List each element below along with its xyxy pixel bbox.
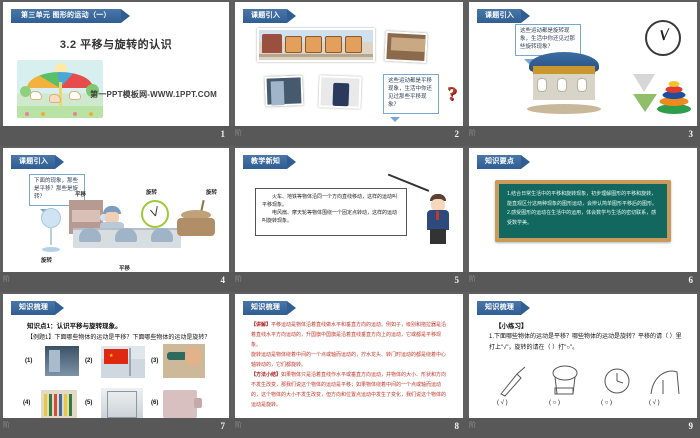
- page-title: 3.2 平移与旋转的认识: [3, 36, 229, 52]
- slide-5-canvas: 教学新知 火车、地铁等物体沿同一个方向直线移动，这样的运动叫平移现象。 电风扇、…: [235, 148, 463, 272]
- slide-1-canvas: 第三单元 图形的运动（一） 3.2 平移与旋转的认识 第一PPT模板网-WWW.…: [3, 2, 229, 126]
- slide-7-footer: 阶 7: [0, 418, 232, 438]
- photo-train: [257, 28, 375, 62]
- fan-stem: [50, 227, 52, 245]
- abacus-bead: [69, 394, 72, 416]
- label-mill: 旋转: [206, 188, 217, 196]
- page-number: 5: [455, 275, 460, 285]
- answer-3: ( ○ ): [601, 400, 612, 406]
- slide-2-footer: 阶 2: [232, 126, 466, 146]
- footer-mark: 阶: [3, 276, 10, 283]
- page-number: 9: [689, 421, 694, 431]
- label-fan: 旋转: [41, 256, 52, 264]
- photo-subway-door: [45, 346, 79, 376]
- chalkboard-frame: 1.结合日常生活中的平移和旋转现象，初步理解图形的平移和旋转，能直观区分这两种现…: [495, 180, 671, 242]
- teacher-illustration: [425, 194, 451, 244]
- sketch-slide: [647, 364, 683, 398]
- carousel-horse: [537, 78, 547, 92]
- train-car: [325, 36, 342, 53]
- slide-thumbnail-7[interactable]: 知识梳理 知识点1：认识平移与旋转现象。 【例题1】下面哪些物体的运动是平移？下…: [0, 292, 232, 438]
- slide-9-canvas: 知识梳理 【小练习】 1.下面哪些物体的运动是平移？哪些物体的运动是旋转？平移的…: [469, 294, 697, 418]
- flower-icon: [73, 112, 77, 116]
- locomotive-shape: [262, 34, 282, 53]
- item-number-5: (5): [85, 400, 92, 406]
- page-number: 3: [689, 129, 694, 139]
- section-tag: 知识梳理: [477, 301, 521, 315]
- section-tag: 教学新知: [243, 155, 287, 169]
- carousel-horse: [557, 78, 567, 92]
- chalkboard: 1.结合日常生活中的平移和旋转现象，初步理解图形的平移和旋转，能直观区分这两种现…: [499, 184, 667, 238]
- board-line-1: 1.结合日常生活中的平移和旋转现象，初步理解图形的平移和旋转，能直观区分这两种现…: [507, 190, 659, 209]
- summary-text: 如果物体只是沿着直线作水平或垂直方向运动，并物体的大小、形状和方向不发生改变，那…: [251, 372, 446, 408]
- train-car: [285, 36, 302, 53]
- clock-minute-hand: [155, 206, 158, 216]
- photo-faucet: [163, 344, 205, 378]
- clock-icon: [141, 200, 169, 228]
- slide-thumbnail-4[interactable]: 课题引入 下面的现象，那些是平移？那些是旋转？ 旋转 平移 旋转: [0, 146, 232, 292]
- teacher-tie: [436, 211, 439, 220]
- example-question: 【例题1】下面哪些物体的运动是平移？下面哪些物体的运动是旋转？: [27, 332, 210, 341]
- door-glass: [271, 81, 285, 105]
- footer-mark: 阶: [3, 422, 10, 429]
- flag-pole: [129, 348, 131, 376]
- label-drawer: 平移: [75, 190, 86, 198]
- sketch-clock: [599, 364, 635, 398]
- slide-6-canvas: 知识要点 1.结合日常生活中的平移和旋转现象，初步理解图形的平移和旋转，能直观区…: [469, 148, 697, 272]
- slide-5-footer: 阶 5: [232, 272, 466, 292]
- hand-icon: [185, 348, 201, 366]
- label-clock: 旋转: [146, 188, 157, 196]
- stone-mill-icon: [177, 200, 215, 240]
- spinning-top-gray: [633, 74, 655, 92]
- mill-base: [177, 218, 215, 236]
- flag-star: ★: [109, 354, 113, 359]
- abacus-bead: [49, 394, 52, 416]
- train-car: [345, 36, 362, 53]
- slide-8-canvas: 知识梳理 【讲解】平移运动是物体沿着直线做水平和垂直方向的运动。例如子，级别和拖…: [235, 294, 463, 418]
- ring-yellow: [669, 81, 680, 87]
- drawer-front: [391, 37, 426, 52]
- photo-luggage: [318, 75, 361, 108]
- unit-tag: 第三单元 图形的运动（一）: [11, 9, 121, 23]
- abacus-bead: [44, 394, 47, 416]
- suitcase-shape: [333, 83, 350, 107]
- slide-1-footer: 1: [0, 126, 232, 146]
- wall-clock-icon: [645, 20, 681, 56]
- slide-3-footer: 阶 3: [466, 126, 700, 146]
- watermark-text: 第一PPT模板网-WWW.1PPT.COM: [90, 89, 217, 100]
- knowledge-point-heading: 知识点1：认识平移与旋转现象。: [27, 320, 122, 330]
- item-number-1: (1): [25, 358, 32, 364]
- slide-8-footer: 阶 8: [232, 418, 466, 438]
- flower-icon: [89, 112, 93, 116]
- explain-text-1: 平移运动是物体沿着直线做水平和垂直方向的运动。例如子，级别和拖拉器是沿着直线水平…: [251, 322, 446, 348]
- summary-label: 【方法小结】: [251, 372, 281, 378]
- section-tag: 知识梳理: [11, 301, 55, 315]
- label-belt: 平移: [119, 264, 130, 272]
- section-tag: 课题引入: [477, 9, 521, 23]
- slide-thumbnail-8[interactable]: 知识梳理 【讲解】平移运动是物体沿着直线做水平和垂直方向的运动。例如子，级别和拖…: [232, 292, 466, 438]
- answer-2: ( ○ ): [549, 400, 560, 406]
- flower-icon: [41, 112, 45, 116]
- sketch-swing: [547, 364, 583, 398]
- question-mark-icon: ?: [447, 83, 457, 106]
- answer-4: ( √ ): [649, 400, 660, 406]
- concept-textbox: 火车、地铁等物体沿同一个方向直线移动，这样的运动叫平移现象。 电风扇、摩天轮等物…: [255, 188, 407, 236]
- footer-mark: 阶: [469, 422, 476, 429]
- slide-thumbnail-3[interactable]: 课题引入 这些运动都是旋转现象，生活中你还见过那些旋转现象？: [466, 0, 700, 146]
- footer-mark: 阶: [469, 276, 476, 283]
- speech-bubble: 这些运动都是平移现象，生活中你还见过那些平移现象？: [383, 74, 439, 114]
- page-number: 8: [455, 421, 460, 431]
- fan-base: [42, 247, 60, 252]
- slide-2-canvas: 课题引入 这些运动都是平移现象，生活中你还见过那些平移现象？ ?: [235, 2, 463, 126]
- rail-line: [259, 54, 373, 57]
- slide-thumbnail-5[interactable]: 教学新知 火车、地铁等物体沿同一个方向直线移动，这样的运动叫平移现象。 电风扇、…: [232, 146, 466, 292]
- belt-item: [115, 228, 137, 242]
- photo-flag-raising: ★: [101, 346, 145, 378]
- slide-4-canvas: 课题引入 下面的现象，那些是平移？那些是旋转？ 旋转 平移 旋转: [3, 148, 229, 272]
- spinning-top-green: [633, 94, 657, 112]
- sketch-broom: [495, 364, 531, 398]
- photo-abacus: [41, 390, 77, 418]
- carousel-photo: [527, 52, 601, 114]
- footer-mark: 阶: [235, 276, 242, 283]
- board-line-2: 2.感受图形的运动在生活中的运用，体会数学与生活的密切联系，感受数学美。: [507, 209, 659, 228]
- section-tag: 知识要点: [477, 155, 521, 169]
- slide-thumbnail-9[interactable]: 知识梳理 【小练习】 1.下面哪些物体的运动是平移？哪些物体的运动是旋转？平移的…: [466, 292, 700, 438]
- teacher-legs: [430, 229, 446, 244]
- explanation-body: 【讲解】平移运动是物体沿着直线做水平和垂直方向的运动。例如子，级别和拖拉器是沿着…: [251, 320, 449, 410]
- ring-red: [666, 86, 683, 93]
- clock-minute-hand: [663, 28, 669, 40]
- photo-drawer: [163, 390, 197, 418]
- photo-subway-door: [264, 75, 303, 106]
- conveyor-belt: [73, 228, 181, 248]
- slide-thumbnail-6[interactable]: 知识要点 1.结合日常生活中的平移和旋转现象，初步理解图形的平移和旋转，能直观区…: [466, 146, 700, 292]
- stacking-rings-toy: [657, 80, 691, 114]
- slide-3-canvas: 课题引入 这些运动都是旋转现象，生活中你还见过那些旋转现象？: [469, 2, 697, 126]
- footer-mark: 阶: [235, 130, 242, 137]
- page-number: 2: [455, 129, 460, 139]
- section-tag: 课题引入: [243, 9, 287, 23]
- page-number: 6: [689, 275, 694, 285]
- train-car: [305, 36, 322, 53]
- fan-head: [41, 208, 61, 228]
- explain-label: 【讲解】: [251, 322, 271, 328]
- page-number: 4: [221, 275, 226, 285]
- explain-text-2: 旋转运动是物体绕着中间的一个点或轴而运动的，拧水龙头、转门时运动的都是绕着中心轴…: [251, 352, 446, 368]
- drawer-front: [72, 210, 100, 222]
- item-number-3: (3): [151, 358, 158, 364]
- item-number-6: (6): [151, 400, 158, 406]
- slide-9-footer: 阶 9: [466, 418, 700, 438]
- page-number: 1: [221, 129, 226, 139]
- item-number-4: (4): [23, 400, 30, 406]
- slide-thumbnail-1[interactable]: 第三单元 图形的运动（一） 3.2 平移与旋转的认识 第一PPT模板网-WWW.…: [0, 0, 232, 146]
- carousel-horse: [30, 91, 42, 100]
- section-tag: 知识梳理: [243, 301, 287, 315]
- faucet-shape: [167, 352, 187, 360]
- footer-mark: 阶: [469, 130, 476, 137]
- belt-item: [79, 228, 101, 242]
- photo-drawer: [384, 31, 428, 63]
- electric-fan-icon: [39, 208, 63, 252]
- carousel-horse: [577, 78, 587, 92]
- slide-thumbnail-grid: 第三单元 图形的运动（一） 3.2 平移与旋转的认识 第一PPT模板网-WWW.…: [0, 0, 700, 438]
- abacus-bead: [54, 394, 57, 416]
- carousel-base: [527, 104, 601, 114]
- footer-mark: 阶: [235, 422, 242, 429]
- concept-paragraph-2: 电风扇、摩天轮等物体围绕一个固定点转动，这样的运动叫旋转现象。: [262, 209, 400, 225]
- photo-revolving-door: [101, 388, 143, 418]
- slide-4-footer: 阶 4: [0, 272, 232, 292]
- concept-paragraph-1: 火车、地铁等物体沿同一个方向直线移动，这样的运动叫平移现象。: [262, 193, 400, 209]
- flower-icon: [25, 112, 29, 116]
- slide-thumbnail-2[interactable]: 课题引入 这些运动都是平移现象，生活中你还见过那些平移现象？ ? 阶: [232, 0, 466, 146]
- carousel-horse: [49, 94, 61, 103]
- belt-item: [151, 228, 173, 242]
- exercise-heading: 【小练习】: [495, 320, 528, 330]
- china-flag: ★: [104, 349, 128, 364]
- section-tag: 课题引入: [11, 155, 55, 169]
- page-number: 7: [221, 421, 226, 431]
- item-number-2: (2): [85, 358, 92, 364]
- slide-7-canvas: 知识梳理 知识点1：认识平移与旋转现象。 【例题1】下面哪些物体的运动是平移？下…: [3, 294, 229, 418]
- answer-1: ( √ ): [497, 400, 508, 406]
- slide-6-footer: 阶 6: [466, 272, 700, 292]
- exercise-question: 1.下面哪些物体的运动是平移？哪些物体的运动是旋转？平移的请（ ）里打上"√"，…: [489, 332, 685, 354]
- abacus-bead: [59, 394, 62, 416]
- abacus-bead: [64, 394, 67, 416]
- carousel-horse: [69, 91, 81, 100]
